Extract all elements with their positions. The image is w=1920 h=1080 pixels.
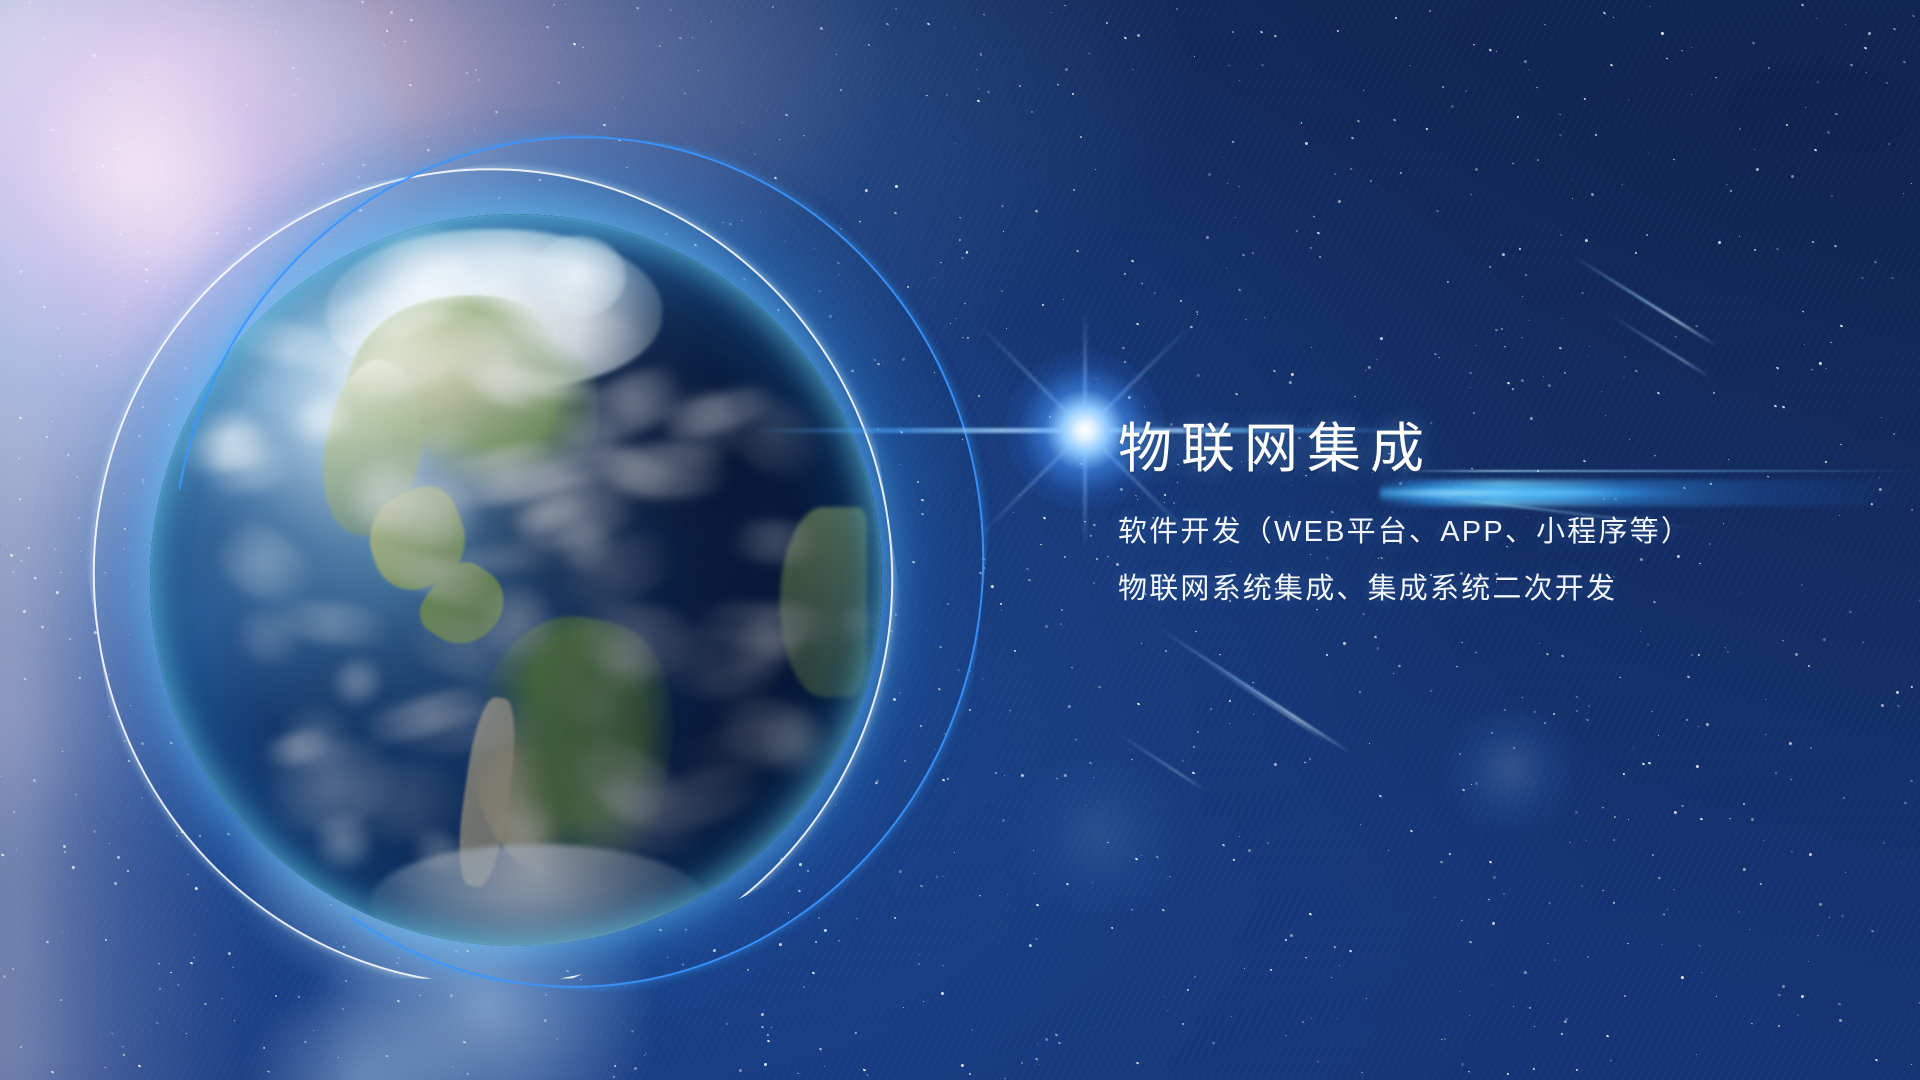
page-title: 物联网集成 bbox=[1118, 420, 1818, 478]
hero-copy: 物联网集成 软件开发（WEB平台、APP、小程序等） 物联网系统集成、集成系统二… bbox=[1118, 420, 1818, 611]
subtitle-line-1: 软件开发（WEB平台、APP、小程序等） bbox=[1118, 512, 1818, 553]
ambient-glow-lower-right bbox=[1430, 710, 1590, 830]
ambient-glow-lower-center bbox=[990, 760, 1210, 910]
hero-banner: 物联网集成 软件开发（WEB平台、APP、小程序等） 物联网系统集成、集成系统二… bbox=[0, 0, 1920, 1080]
subtitle-block: 软件开发（WEB平台、APP、小程序等） 物联网系统集成、集成系统二次开发 bbox=[1118, 512, 1818, 610]
earth-globe bbox=[150, 152, 890, 912]
subtitle-line-2: 物联网系统集成、集成系统二次开发 bbox=[1118, 569, 1818, 610]
